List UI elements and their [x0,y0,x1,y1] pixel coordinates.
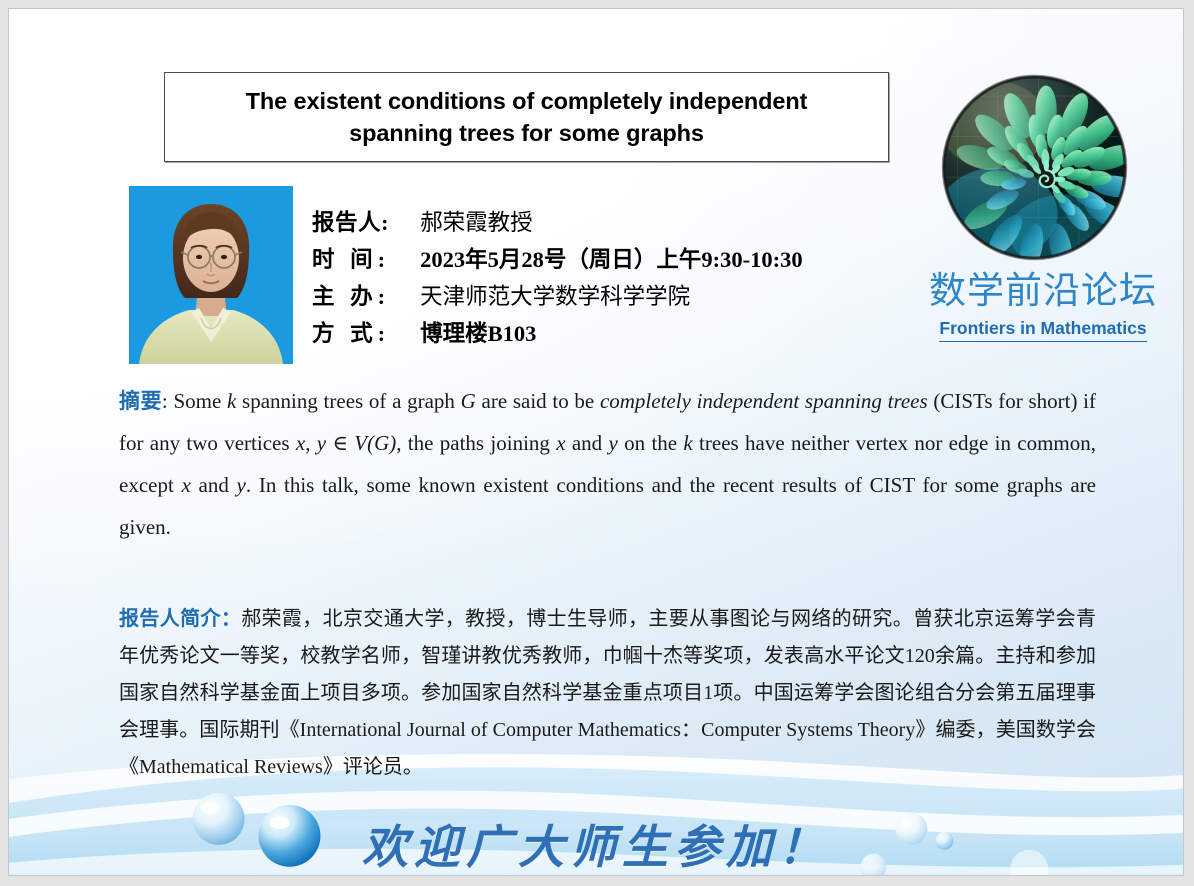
math-var-x-1: x [296,431,305,455]
bio-colon: ： [221,608,241,630]
welcome-message: 欢迎广大师生参加！ [9,811,1183,876]
math-var-y-3: y [237,473,246,497]
abstract-text-1: Some [173,389,227,413]
math-var-VG: V(G) [354,431,396,455]
info-row-time: 时 间: 2023年5月28号（周日）上午9:30-10:30 [312,246,803,283]
math-var-G: G [461,389,476,413]
info-row-speaker: 报告人: 郝荣霞教授 [312,209,803,246]
info-row-organizer: 主 办: 天津师范大学数学科学学院 [312,283,803,320]
math-var-y-1: y [317,431,326,455]
abstract-label: 摘要 [119,389,162,413]
abstract-text-5: , [305,431,317,455]
brand-title-cn: 数学前沿论坛 [899,271,1184,311]
info-label-venue: 方 式: [312,320,420,357]
abstract-text-11: and [191,473,237,497]
math-var-k-2: k [683,431,692,455]
abstract-text-2: spanning trees of a graph [236,389,460,413]
speaker-bio-paragraph: 报告人简介：郝荣霞，北京交通大学，教授，博士生导师，主要从事图论与网络的研究。曾… [119,601,1096,786]
abstract-text-3: are said to be [476,389,600,413]
info-row-venue: 方 式: 博理楼B103 [312,320,803,357]
brand-title-en: Frontiers in Mathematics [939,318,1146,342]
info-value-speaker: 郝荣霞教授 [420,209,802,246]
speaker-portrait-photo [129,186,293,364]
abstract-text-8: and [566,431,609,455]
poster-page: The existent conditions of completely in… [8,8,1184,876]
math-var-x-2: x [556,431,565,455]
abstract-text-7: , the paths joining [396,431,556,455]
abstract-paragraph: 摘要: Some k spanning trees of a graph G a… [119,380,1096,548]
info-value-time: 2023年5月28号（周日）上午9:30-10:30 [420,246,802,283]
brand-block: 数学前沿论坛 Frontiers in Mathematics [899,271,1184,342]
info-label-time: 时 间: [312,246,420,283]
abstract-italic-term: completely independent spanning trees [600,389,928,413]
math-var-k-1: k [227,389,236,413]
math-var-x-3: x [182,473,191,497]
abstract-text-6: ∈ [326,431,354,455]
math-var-y-2: y [609,431,618,455]
abstract-colon: : [162,389,174,413]
info-value-organizer: 天津师范大学数学科学学院 [420,283,802,320]
poster-title-box: The existent conditions of completely in… [164,72,889,162]
seminar-info-table: 报告人: 郝荣霞教授 时 间: 2023年5月28号（周日）上午9:30-10:… [312,209,803,357]
info-label-speaker: 报告人: [312,209,420,246]
bio-text: 郝荣霞，北京交通大学，教授，博士生导师，主要从事图论与网络的研究。曾获北京运筹学… [119,608,1096,778]
info-label-organizer: 主 办: [312,283,420,320]
bio-label: 报告人简介 [119,608,221,630]
info-value-venue: 博理楼B103 [420,320,802,357]
page-title: The existent conditions of completely in… [165,85,888,150]
abstract-text-12: . In this talk, some known existent cond… [119,473,1096,539]
fractal-spiral-logo [938,71,1131,264]
abstract-text-9: on the [618,431,684,455]
